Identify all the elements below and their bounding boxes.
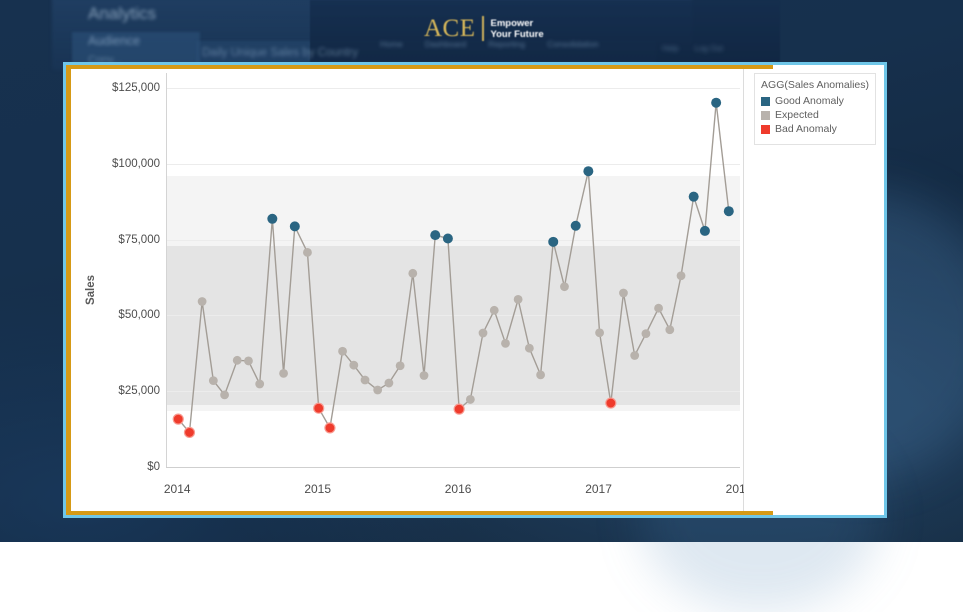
data-point-bad-anomaly[interactable]: [454, 404, 464, 414]
data-point-expected[interactable]: [198, 297, 207, 306]
legend-label: Bad Anomaly: [775, 123, 837, 135]
data-point-expected[interactable]: [490, 306, 499, 315]
x-tick-label: 2017: [585, 482, 612, 496]
background-chart-title: Daily Unique Sales by Country: [202, 47, 358, 59]
visualization-body: Sales $0$25,000$50,000$75,000$100,000$12…: [66, 65, 884, 515]
x-axis: 20142015201620172018: [166, 467, 740, 515]
data-point-expected[interactable]: [408, 269, 417, 278]
legend-title: AGG(Sales Anomalies): [761, 79, 869, 91]
data-point-expected[interactable]: [501, 339, 510, 348]
data-point-expected[interactable]: [642, 329, 651, 338]
data-point-expected[interactable]: [233, 356, 242, 365]
y-tick-label: $25,000: [118, 385, 160, 397]
data-point-bad-anomaly[interactable]: [173, 414, 183, 424]
data-point-good-anomaly[interactable]: [290, 221, 300, 231]
nav-item-consolidation[interactable]: Consolidation: [547, 39, 599, 49]
legend-card[interactable]: AGG(Sales Anomalies) Good AnomalyExpecte…: [754, 73, 876, 145]
data-point-expected[interactable]: [396, 361, 405, 370]
legend-entries[interactable]: Good AnomalyExpectedBad Anomaly: [761, 95, 869, 135]
background-top-nav-right[interactable]: Help Log Out: [662, 44, 723, 53]
nav-item-reporting[interactable]: Reporting: [488, 39, 525, 49]
legend-label: Good Anomaly: [775, 95, 844, 107]
data-point-expected[interactable]: [303, 248, 312, 257]
data-point-expected[interactable]: [536, 370, 545, 379]
data-point-good-anomaly[interactable]: [724, 206, 734, 216]
data-point-expected[interactable]: [595, 328, 604, 337]
data-point-good-anomaly[interactable]: [443, 233, 453, 243]
nav-item-dashboard[interactable]: Dashboard: [425, 39, 467, 49]
y-tick-label: $100,000: [112, 158, 160, 170]
data-point-good-anomaly[interactable]: [267, 214, 277, 224]
chart-pane[interactable]: Sales $0$25,000$50,000$75,000$100,000$12…: [66, 65, 744, 515]
nav-item-home[interactable]: Home: [380, 39, 403, 49]
legend-swatch-icon: [761, 125, 770, 134]
data-point-expected[interactable]: [665, 325, 674, 334]
data-point-expected[interactable]: [525, 344, 534, 353]
data-point-expected[interactable]: [361, 376, 370, 385]
y-tick-label: $0: [147, 461, 160, 473]
data-point-expected[interactable]: [677, 271, 686, 280]
ace-tagline-line1: Empower: [491, 18, 544, 29]
frame-accent-bottom: [66, 511, 773, 515]
data-point-bad-anomaly[interactable]: [606, 398, 616, 408]
y-axis-tick-labels: $0$25,000$50,000$75,000$100,000$125,000: [92, 65, 164, 473]
background-sidebar-item-audience: Audience: [88, 34, 140, 48]
legend-pane: AGG(Sales Anomalies) Good AnomalyExpecte…: [744, 65, 884, 515]
data-point-good-anomaly[interactable]: [700, 226, 710, 236]
data-point-expected[interactable]: [220, 390, 229, 399]
data-point-expected[interactable]: [373, 386, 382, 395]
x-tick-label: 2014: [164, 482, 191, 496]
legend-entry[interactable]: Expected: [761, 109, 869, 121]
data-point-expected[interactable]: [479, 329, 488, 338]
data-point-expected[interactable]: [338, 347, 347, 356]
frame-accent-top: [66, 65, 773, 69]
data-point-good-anomaly[interactable]: [689, 192, 699, 202]
nav-item-help[interactable]: Help: [662, 44, 678, 53]
data-point-expected[interactable]: [654, 304, 663, 313]
data-point-expected[interactable]: [209, 376, 218, 385]
background-top-nav[interactable]: Home Dashboard Reporting Consolidation: [380, 36, 710, 52]
frame-accent-left: [66, 65, 71, 515]
legend-entry[interactable]: Good Anomaly: [761, 95, 869, 107]
data-point-expected[interactable]: [349, 361, 358, 370]
data-point-expected[interactable]: [385, 379, 394, 388]
y-tick-label: $125,000: [112, 82, 160, 94]
data-point-expected[interactable]: [630, 351, 639, 360]
y-tick-label: $75,000: [118, 234, 160, 246]
data-point-good-anomaly[interactable]: [548, 237, 558, 247]
data-point-good-anomaly[interactable]: [571, 221, 581, 231]
nav-item-log-out[interactable]: Log Out: [695, 44, 723, 53]
data-point-expected[interactable]: [466, 395, 475, 404]
legend-swatch-icon: [761, 111, 770, 120]
data-point-good-anomaly[interactable]: [430, 230, 440, 240]
data-point-good-anomaly[interactable]: [583, 166, 593, 176]
x-tick-label: 2016: [445, 482, 472, 496]
series-plot: [167, 73, 740, 467]
data-point-expected[interactable]: [244, 357, 253, 366]
data-point-bad-anomaly[interactable]: [314, 403, 324, 413]
data-point-expected[interactable]: [279, 369, 288, 378]
data-point-expected[interactable]: [255, 380, 264, 389]
data-point-expected[interactable]: [514, 295, 523, 304]
visualization-frame: Sales $0$25,000$50,000$75,000$100,000$12…: [63, 62, 887, 518]
data-point-bad-anomaly[interactable]: [325, 423, 335, 433]
legend-swatch-icon: [761, 97, 770, 106]
x-tick-label: 2015: [304, 482, 331, 496]
background-app-title: Analytics: [88, 4, 156, 24]
data-point-expected[interactable]: [619, 289, 628, 298]
legend-label: Expected: [775, 109, 819, 121]
plot-area[interactable]: [166, 73, 740, 467]
y-tick-label: $50,000: [118, 309, 160, 321]
legend-entry[interactable]: Bad Anomaly: [761, 123, 869, 135]
data-point-good-anomaly[interactable]: [711, 98, 721, 108]
data-point-expected[interactable]: [420, 371, 429, 380]
data-point-expected[interactable]: [560, 282, 569, 291]
data-point-bad-anomaly[interactable]: [184, 427, 194, 437]
